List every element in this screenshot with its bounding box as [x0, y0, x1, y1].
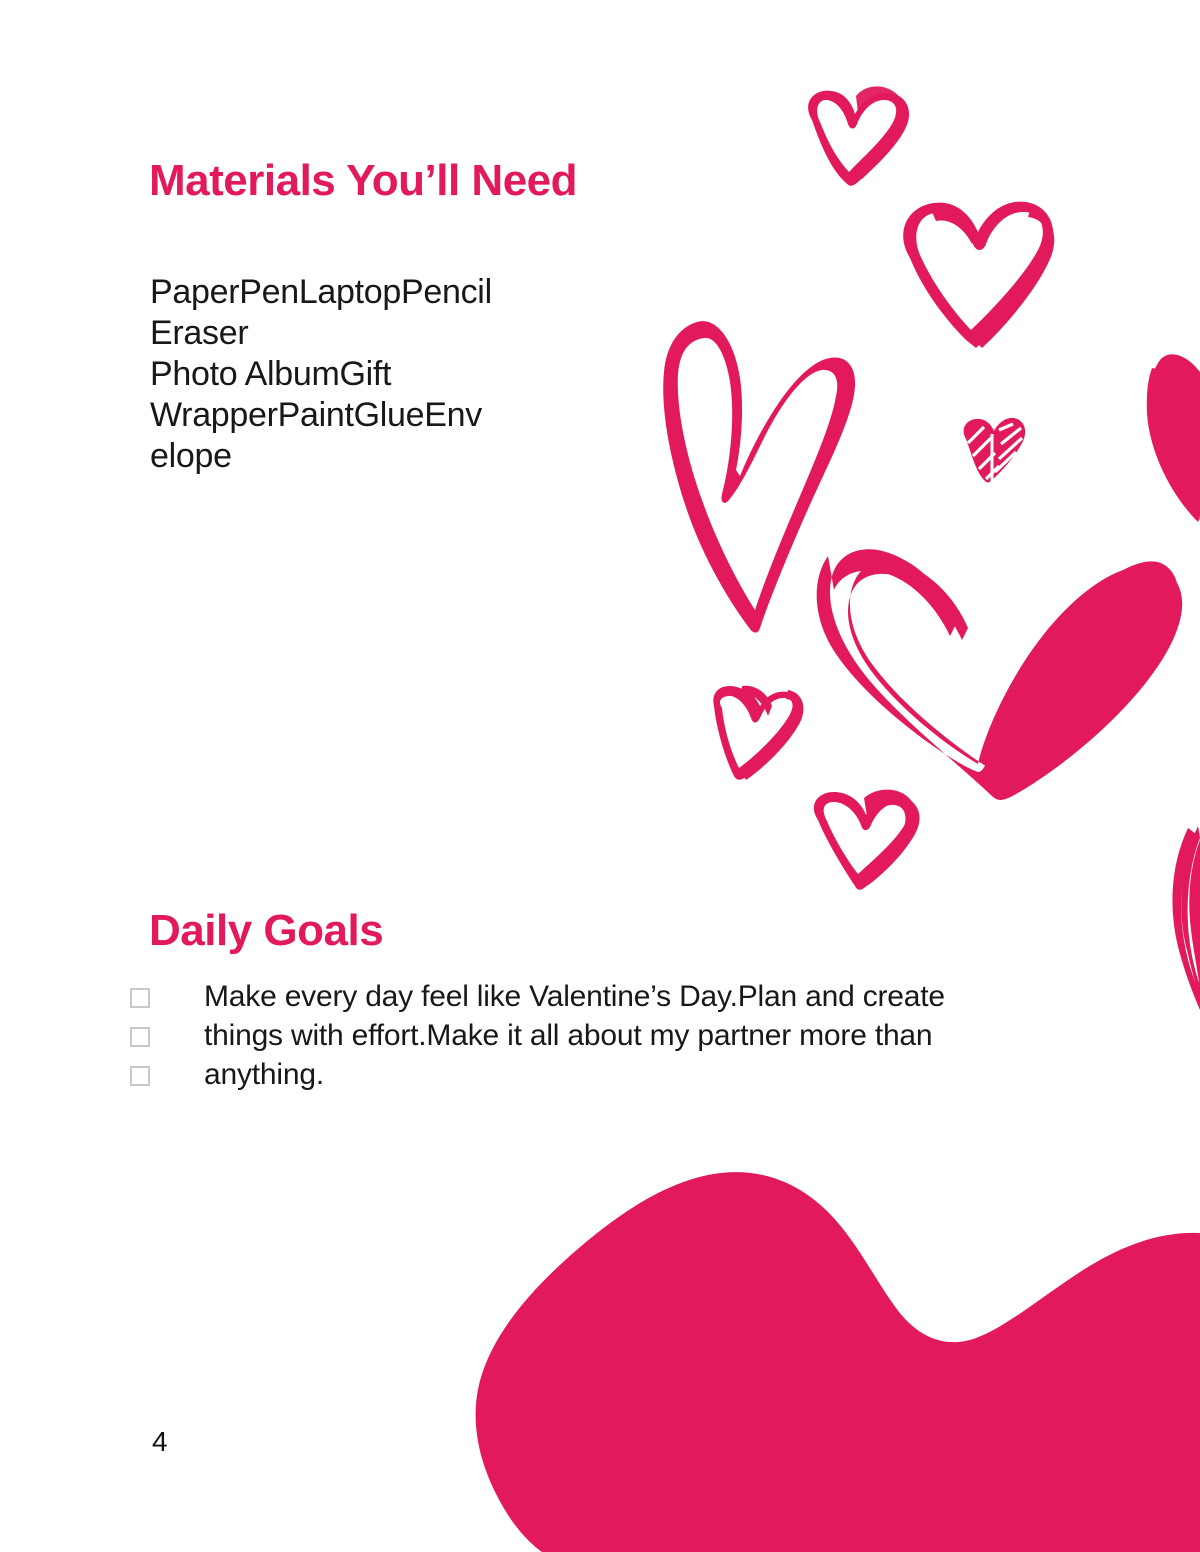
goal-checkbox-3[interactable] [130, 1066, 150, 1086]
goals-section-title: Daily Goals [149, 907, 383, 955]
materials-line-2: Photo AlbumGift WrapperPaintGlueEnvelope [150, 354, 495, 477]
goals-text: Make every day feel like Valentine’s Day… [204, 977, 1004, 1094]
goal-checkbox-1[interactable] [130, 988, 150, 1008]
page-canvas: Materials You’ll Need PaperPenLaptopPenc… [0, 0, 1200, 1552]
page-content: Materials You’ll Need PaperPenLaptopPenc… [0, 0, 1200, 1552]
goals-checkbox-column [130, 988, 164, 1105]
goal-checkbox-2[interactable] [130, 1027, 150, 1047]
materials-line-1: PaperPenLaptopPencilEraser [150, 272, 495, 354]
materials-list: PaperPenLaptopPencilEraser Photo AlbumGi… [150, 272, 495, 477]
materials-section-title: Materials You’ll Need [149, 157, 577, 205]
page-number: 4 [152, 1428, 168, 1456]
